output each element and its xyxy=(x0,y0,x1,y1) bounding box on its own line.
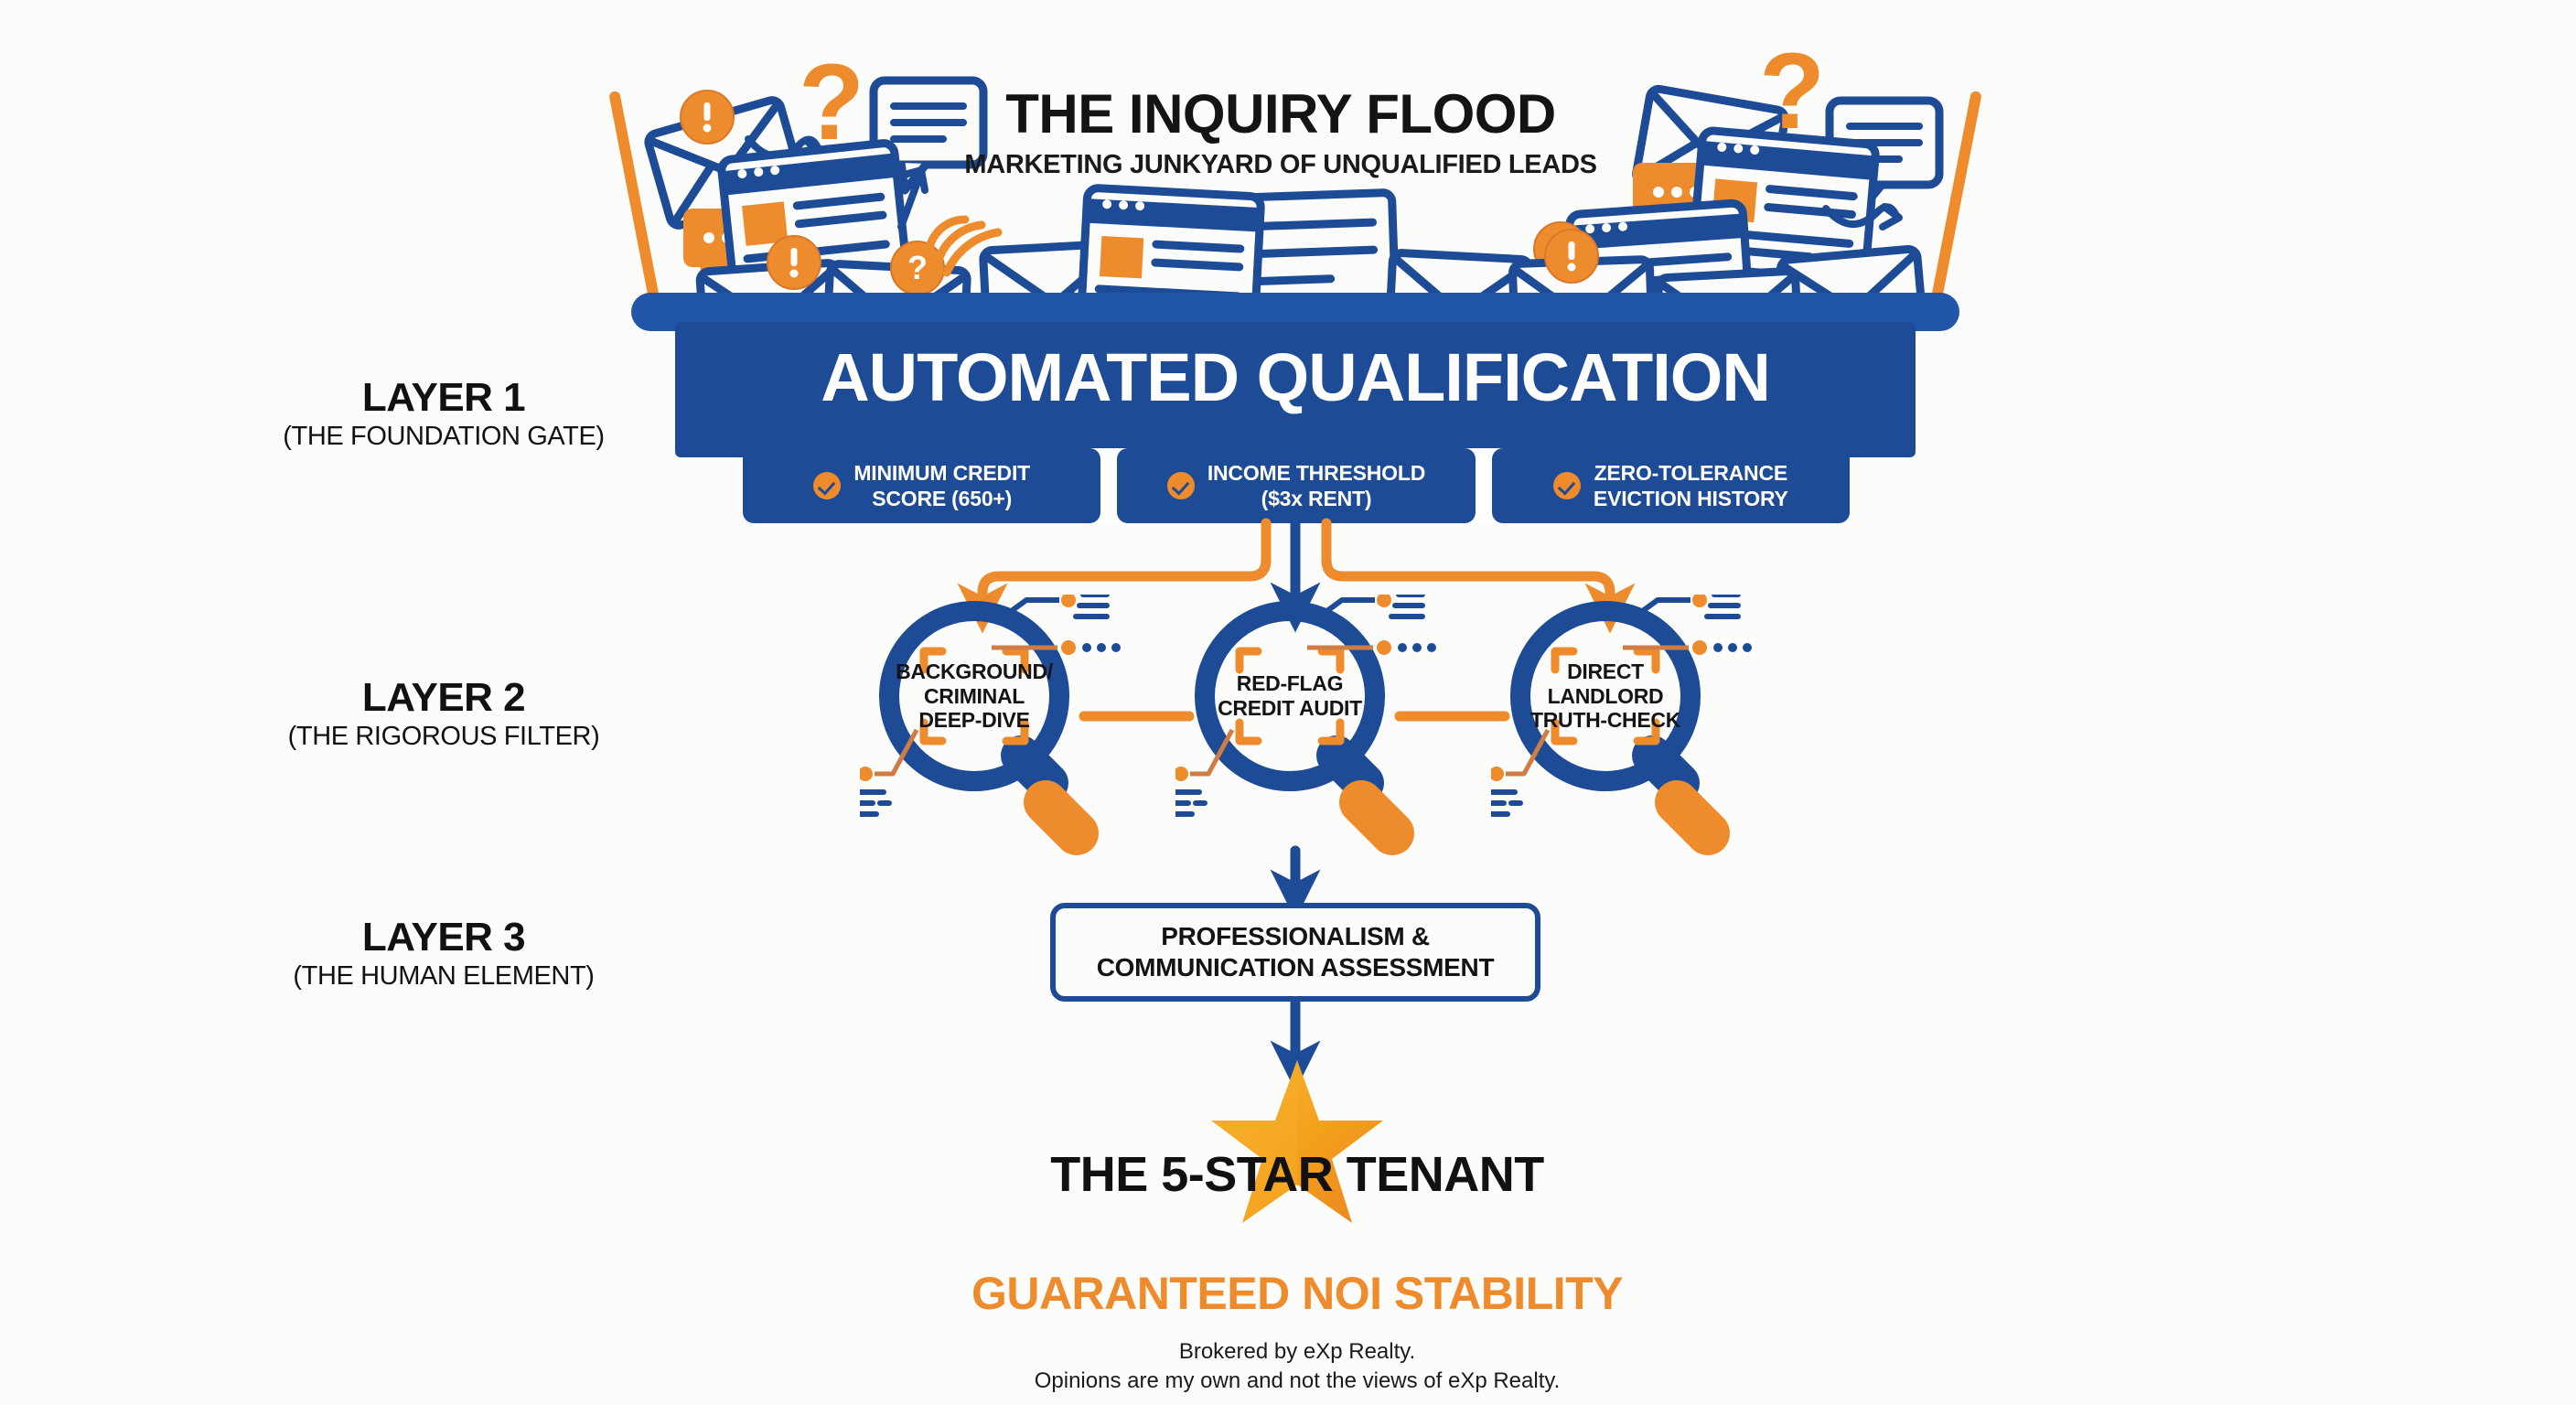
criteria-list: MINIMUM CREDIT SCORE (650+) INCOME THRES… xyxy=(743,448,1850,523)
funnel-rail-left xyxy=(608,91,662,317)
layer-label-2: LAYER 2 (THE RIGOROUS FILTER) xyxy=(224,677,663,752)
criteria-chip-income-threshold[interactable]: INCOME THRESHOLD ($3x RENT) xyxy=(1117,448,1475,523)
check-circle-icon xyxy=(813,472,841,499)
disclaimer-line-2: Opinions are my own and not the views of… xyxy=(831,1367,1764,1396)
disclaimer-line-1: Brokered by eXp Realty. xyxy=(831,1337,1764,1367)
layer-label-3: LAYER 3 (THE HUMAN ELEMENT) xyxy=(224,917,663,992)
layer-title: LAYER 1 xyxy=(224,377,663,419)
automated-qualification-banner: AUTOMATED QUALIFICATION xyxy=(675,322,1916,457)
criteria-chip-credit-score[interactable]: MINIMUM CREDIT SCORE (650+) xyxy=(743,448,1100,523)
banner-title: AUTOMATED QUALIFICATION xyxy=(675,344,1916,412)
layer-subtitle: (THE FOUNDATION GATE) xyxy=(224,423,663,452)
check-circle-icon xyxy=(1167,472,1195,499)
criteria-label: INCOME THRESHOLD ($3x RENT) xyxy=(1207,460,1425,511)
filter-node-landlord-check[interactable]: DIRECT LANDLORD TRUTH-CHECK xyxy=(1491,595,1766,869)
funnel-rail-right xyxy=(1927,91,1981,317)
check-circle-icon xyxy=(1553,472,1581,499)
outcome-subtitle: GUARANTEED NOI STABILITY xyxy=(831,1267,1764,1320)
filter-label: DIRECT LANDLORD TRUTH-CHECK xyxy=(1517,595,1694,798)
layer-subtitle: (THE HUMAN ELEMENT) xyxy=(224,962,663,992)
disclaimer: Brokered by eXp Realty. Opinions are my … xyxy=(831,1337,1764,1395)
page-subtitle: MARKETING JUNKYARD OF UNQUALIFIED LEADS xyxy=(942,150,1619,180)
human-assessment-label: PROFESSIONALISM & COMMUNICATION ASSESSME… xyxy=(1097,921,1495,982)
layer-title: LAYER 3 xyxy=(224,917,663,959)
infographic-canvas: ? ? xyxy=(0,0,2576,1405)
filter-label: BACKGROUND/ CRIMINAL DEEP-DIVE xyxy=(885,595,1063,798)
criteria-label: ZERO-TOLERANCE EVICTION HISTORY xyxy=(1594,460,1788,511)
page-title: THE INQUIRY FLOOD xyxy=(942,87,1619,142)
human-assessment-box[interactable]: PROFESSIONALISM & COMMUNICATION ASSESSME… xyxy=(1050,903,1540,1002)
criteria-chip-eviction-history[interactable]: ZERO-TOLERANCE EVICTION HISTORY xyxy=(1492,448,1850,523)
outcome-title: THE 5-STAR TENANT xyxy=(831,1146,1764,1203)
layer-subtitle: (THE RIGOROUS FILTER) xyxy=(224,723,663,752)
layer-label-1: LAYER 1 (THE FOUNDATION GATE) xyxy=(224,377,663,452)
filter-label: RED-FLAG CREDIT AUDIT xyxy=(1201,595,1379,798)
filter-node-credit-audit[interactable]: RED-FLAG CREDIT AUDIT xyxy=(1175,595,1450,869)
criteria-label: MINIMUM CREDIT SCORE (650+) xyxy=(853,460,1030,511)
header-block: THE INQUIRY FLOOD MARKETING JUNKYARD OF … xyxy=(942,87,1619,180)
star-icon xyxy=(1206,1056,1389,1230)
filter-node-background-check[interactable]: BACKGROUND/ CRIMINAL DEEP-DIVE xyxy=(860,595,1134,869)
layer-title: LAYER 2 xyxy=(224,677,663,719)
